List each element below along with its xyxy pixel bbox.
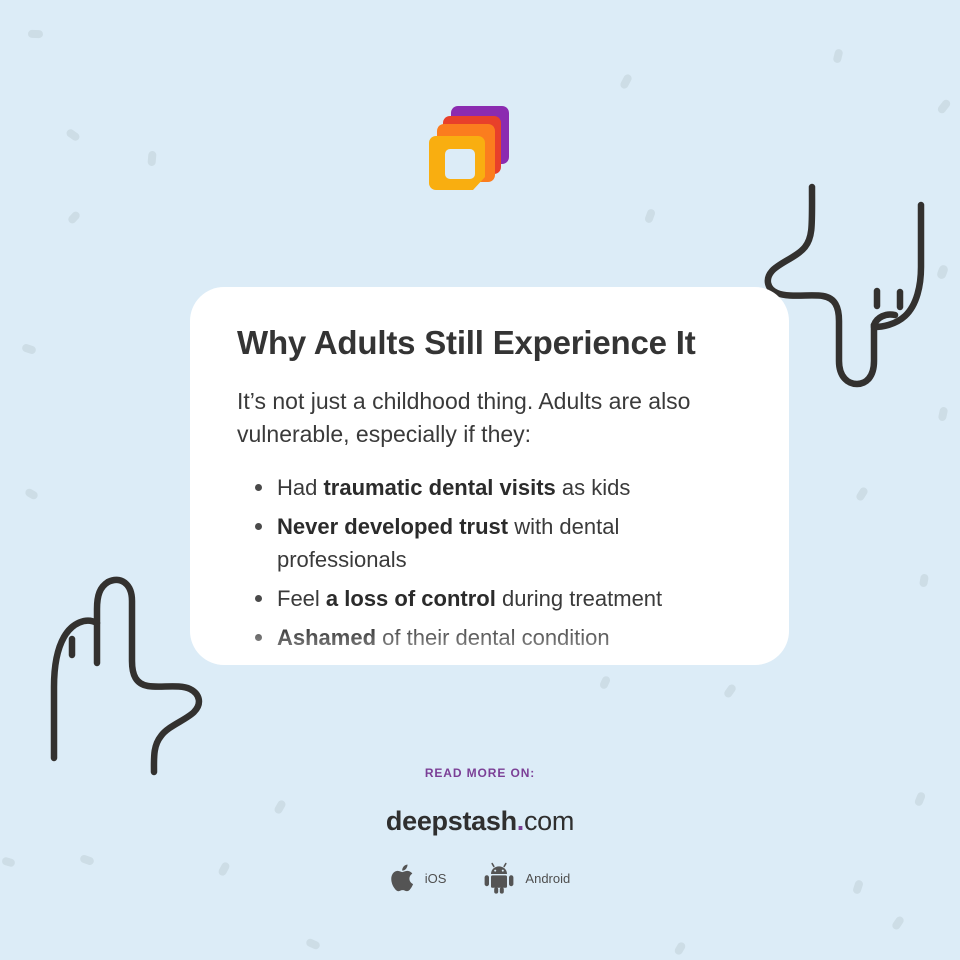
page-title: Why Adults Still Experience It bbox=[237, 323, 742, 363]
list-item: Never developed trust with dental profes… bbox=[277, 510, 742, 576]
confetti-dot bbox=[644, 208, 656, 224]
wordmark-name: deepstash bbox=[386, 806, 517, 836]
footer: READ MORE ON: deepstash.com iOS bbox=[0, 766, 960, 894]
bullet-text-pre: Feel bbox=[277, 586, 326, 611]
list-item: Feel a loss of control during treatment bbox=[277, 582, 742, 615]
confetti-dot bbox=[919, 573, 929, 587]
deepstash-wordmark[interactable]: deepstash.com bbox=[0, 806, 960, 837]
ios-label: iOS bbox=[425, 871, 447, 886]
wordmark-tld: com bbox=[524, 806, 574, 836]
bullet-text-post: of their dental condition bbox=[376, 625, 610, 650]
confetti-dot bbox=[65, 128, 81, 143]
android-label: Android bbox=[525, 871, 570, 886]
confetti-dot bbox=[28, 30, 43, 39]
confetti-dot bbox=[147, 151, 156, 167]
bullet-text-emphasis: a loss of control bbox=[326, 586, 496, 611]
confetti-dot bbox=[673, 941, 686, 956]
ios-store-badge[interactable]: iOS bbox=[390, 863, 447, 893]
confetti-dot bbox=[599, 675, 612, 690]
confetti-dot bbox=[855, 486, 869, 502]
confetti-dot bbox=[891, 915, 905, 931]
confetti-dot bbox=[21, 343, 37, 355]
bullet-text-emphasis: Ashamed bbox=[277, 625, 376, 650]
bullet-text-post: during treatment bbox=[496, 586, 662, 611]
android-icon bbox=[482, 862, 516, 894]
confetti-dot bbox=[67, 210, 82, 225]
android-store-badge[interactable]: Android bbox=[482, 862, 570, 894]
deepstash-logo bbox=[428, 102, 518, 198]
bullet-text-emphasis: traumatic dental visits bbox=[323, 475, 555, 500]
confetti-dot bbox=[936, 264, 949, 280]
card-inner: Why Adults Still Experience It It’s not … bbox=[237, 323, 742, 654]
reasons-list: Had traumatic dental visits as kidsNever… bbox=[237, 471, 742, 654]
bullet-text-pre: Had bbox=[277, 475, 323, 500]
confetti-dot bbox=[619, 73, 633, 90]
pointing-hand-bottom-left bbox=[28, 565, 208, 780]
confetti-dot bbox=[936, 98, 952, 115]
confetti-dot bbox=[723, 683, 738, 699]
confetti-dot bbox=[938, 406, 949, 421]
bullet-text-post: as kids bbox=[556, 475, 631, 500]
card-body-text: It’s not just a childhood thing. Adults … bbox=[237, 385, 742, 451]
read-more-label: READ MORE ON: bbox=[0, 766, 960, 780]
wordmark-dot: . bbox=[517, 806, 524, 836]
confetti-dot bbox=[24, 487, 39, 500]
apple-icon bbox=[390, 863, 416, 893]
list-item: Had traumatic dental visits as kids bbox=[277, 471, 742, 504]
list-item: Ashamed of their dental condition bbox=[277, 621, 742, 654]
bullet-text-emphasis: Never developed trust bbox=[277, 514, 508, 539]
slide-canvas: Why Adults Still Experience It It’s not … bbox=[0, 0, 960, 960]
confetti-dot bbox=[305, 937, 321, 950]
content-card: Why Adults Still Experience It It’s not … bbox=[190, 287, 789, 665]
store-badges: iOS bbox=[0, 862, 960, 894]
confetti-dot bbox=[832, 48, 843, 64]
